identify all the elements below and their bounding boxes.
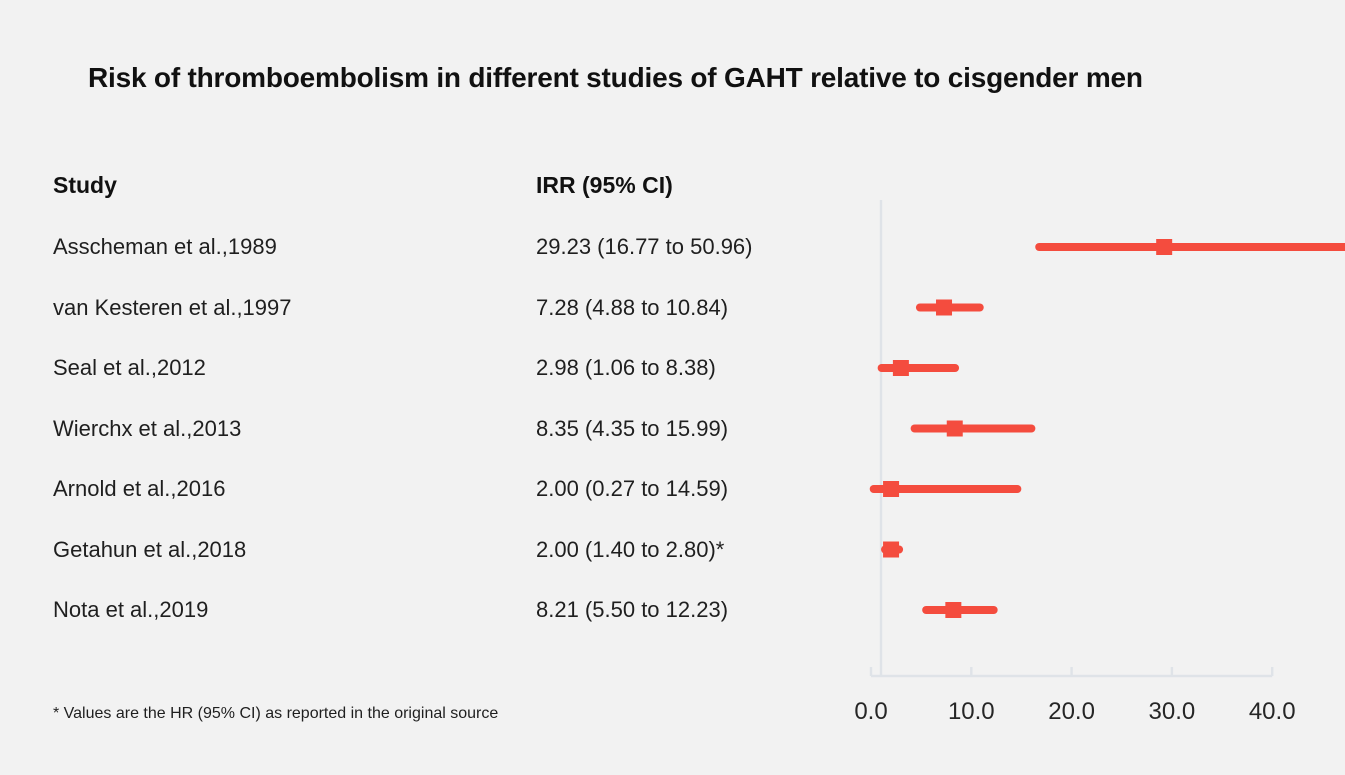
table-row-irr-value: 2.98 (1.06 to 8.38) bbox=[536, 355, 716, 381]
table-row-irr-value: 29.23 (16.77 to 50.96) bbox=[536, 234, 753, 260]
table-row-irr-value: 8.21 (5.50 to 12.23) bbox=[536, 597, 728, 623]
x-axis-tick-label: 10.0 bbox=[948, 698, 995, 726]
table-row-study-name: Asscheman et al.,1989 bbox=[53, 234, 277, 260]
table-row-study-name: Getahun et al.,2018 bbox=[53, 537, 246, 563]
table-row-study-name: Nota et al.,2019 bbox=[53, 597, 208, 623]
table-row-study-name: van Kesteren et al.,1997 bbox=[53, 295, 292, 321]
x-axis-tick-label: 20.0 bbox=[1048, 698, 1095, 726]
table-row-irr-value: 2.00 (0.27 to 14.59) bbox=[536, 476, 728, 502]
x-axis-tick-label: 40.0 bbox=[1249, 698, 1296, 726]
forest-plot-figure: Risk of thromboembolism in different stu… bbox=[0, 0, 1345, 775]
table-row-irr-value: 8.35 (4.35 to 15.99) bbox=[536, 416, 728, 442]
table-row-irr-value: 2.00 (1.40 to 2.80)* bbox=[536, 537, 724, 563]
x-axis-tick-label: 0.0 bbox=[854, 698, 887, 726]
table-row-irr-value: 7.28 (4.88 to 10.84) bbox=[536, 295, 728, 321]
table-row-study-name: Arnold et al.,2016 bbox=[53, 476, 225, 502]
study-table: Asscheman et al.,198929.23 (16.77 to 50.… bbox=[0, 0, 1345, 775]
table-row-study-name: Seal et al.,2012 bbox=[53, 355, 206, 381]
table-row-study-name: Wierchx et al.,2013 bbox=[53, 416, 241, 442]
footnote: * Values are the HR (95% CI) as reported… bbox=[53, 705, 498, 723]
x-axis-tick-label: 30.0 bbox=[1149, 698, 1196, 726]
